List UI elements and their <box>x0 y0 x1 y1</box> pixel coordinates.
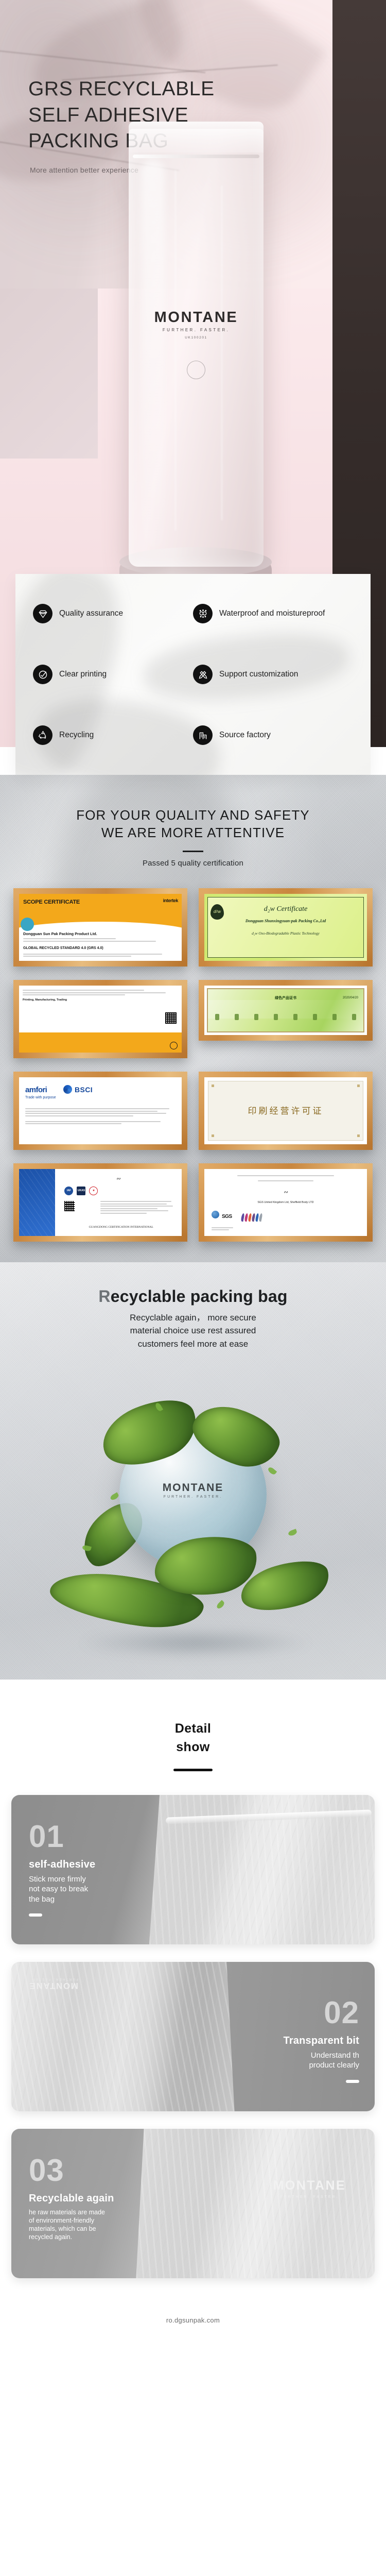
certification-header: FOR YOUR QUALITY AND SAFETY WE ARE MORE … <box>0 807 386 868</box>
detail-card-recyclable-again[interactable]: MONTANE FURTHER. FASTER. 03 Recyclable a… <box>11 2129 375 2278</box>
feature-item-source-factory: Source factory <box>193 705 353 766</box>
certificate-brand: SGS <box>222 1214 232 1219</box>
droplets-icon <box>193 604 213 623</box>
card-text-line-4: recycled again. <box>29 2233 139 2241</box>
bag-photo <box>136 2129 375 2278</box>
cnas-badge-icon: ★ <box>89 1187 98 1195</box>
card-divider <box>346 2080 359 2083</box>
feature-label: Source factory <box>219 731 271 740</box>
certificate-tagline: Trade with purpose <box>25 1096 56 1099</box>
recycle-icon <box>33 725 52 745</box>
brand-tagline: FURTHER. FASTER. <box>129 328 264 332</box>
eco-title-rest: ecyclable packing bag <box>111 1287 288 1306</box>
card-number: 02 <box>231 1998 359 2028</box>
feature-label: Waterproof and moistureproof <box>219 609 325 619</box>
feature-item-recycling: Recycling <box>33 705 193 766</box>
feature-label: Quality assurance <box>59 609 123 619</box>
globe-icon <box>212 1211 219 1218</box>
bag-flap <box>129 122 264 152</box>
card-text-line-1: Stick more firmly <box>29 1874 139 1885</box>
card-text-line-2: product clearly <box>231 2060 359 2071</box>
bag-brand-overlay: MONTANE FURTHER. FASTER. <box>273 2178 346 2199</box>
certificate-title: BSCI <box>75 1086 93 1094</box>
certificate-amfori-bsci-certificate[interactable]: amfori BSCI Trade with purpose <box>13 1072 187 1150</box>
footer: ro.dgsunpak.com <box>0 2301 386 2342</box>
card-text-line-2: not easy to break <box>29 1884 139 1894</box>
signature-mark: ∾ <box>55 1176 182 1182</box>
certificate-title: 印刷经营许可证 <box>208 1104 363 1116</box>
product-detail-page: GRS RECYCLABLE SELF ADHESIVE PACKING BAG… <box>0 0 386 2342</box>
certificate-scope-certificate[interactable]: SCOPE CERTIFICATE intertek Dongguan Sun … <box>13 888 187 967</box>
certificate-company: Dongguan Sun Pak Packing Product Ltd. <box>23 931 178 937</box>
certificate-footer-band <box>19 1032 182 1053</box>
card-text-line-2: of environment-friendly <box>29 2216 139 2225</box>
certification-subtitle: Passed 5 quality certification <box>0 859 386 868</box>
eco-paragraph-line-2: material choice use rest assured <box>0 1324 386 1337</box>
card-divider <box>29 1913 42 1917</box>
certificate-iso-certificate[interactable]: ∾ IAF UKAS ★ GUANGDONG CERTIFICATION INT… <box>13 1163 187 1242</box>
eco-header: Recyclable packing bag Recyclable again，… <box>0 1287 386 1351</box>
features-grid: Quality assurance Waterproof and moistur… <box>15 574 371 775</box>
backdrop-panel <box>0 289 98 459</box>
certificate-title: SCOPE CERTIFICATE <box>23 899 80 905</box>
eco-illustration: MONTANE FURTHER. FASTER. <box>0 1360 386 1680</box>
card-text-line-3: materials, which can be <box>29 2225 139 2233</box>
diamond-icon <box>33 604 52 623</box>
bag-crease <box>221 185 222 520</box>
certification-heading-line-2: WE ARE MORE ATTENTIVE <box>0 824 386 842</box>
iaf-badge-icon: IAF <box>64 1187 73 1195</box>
eco-title-accent: R <box>98 1287 110 1306</box>
heading-divider <box>183 851 203 852</box>
card-text: he raw materials are made of environment… <box>29 2208 139 2242</box>
feature-item-clear-printing: Clear printing <box>33 644 193 705</box>
leaf-icon <box>267 1466 277 1476</box>
certificate-sgs-certificate[interactable]: ∾ SGS United Kingdom Ltd, Sheffield Body… <box>199 1163 373 1242</box>
certificate-side-band <box>19 1169 55 1236</box>
detail-heading: Detail show <box>0 1720 386 1756</box>
detail-show-header: Detail show <box>0 1680 386 1795</box>
certificate-issuer: GUANGDONG CERTIFICATION INTERNATIONAL <box>64 1226 178 1229</box>
certificate-brand: intertek <box>163 898 178 903</box>
eco-paragraph: Recyclable again， more secure material c… <box>0 1311 386 1351</box>
features-section: Quality assurance Waterproof and moistur… <box>15 574 371 775</box>
pencils-icon <box>193 665 213 684</box>
card-number: 01 <box>29 1822 139 1852</box>
certificate-standard: d₂w Oxo-Biodegradable Plastic Technology <box>204 931 367 936</box>
certificates-grid: SCOPE CERTIFICATE intertek Dongguan Sun … <box>0 868 386 1242</box>
accreditation-badges: IAF UKAS ★ <box>64 1187 98 1195</box>
qr-code-icon <box>64 1201 75 1211</box>
certificate-title: d₂w Certificate <box>204 905 367 913</box>
brand-name: MONTANE <box>129 309 264 326</box>
seal-icon <box>170 1042 178 1049</box>
bag-seal-circle <box>187 361 205 379</box>
brand-tagline: FURTHER. FASTER. <box>29 1977 78 1980</box>
certificate-company: Dongguan Shunxingyuan-pak Packing Co.,Lt… <box>204 919 367 923</box>
card-title: Transparent bit <box>231 2035 359 2047</box>
certification-section: FOR YOUR QUALITY AND SAFETY WE ARE MORE … <box>0 775 386 1262</box>
brand-name: MONTANE <box>273 2178 346 2193</box>
leaf-icon <box>288 1529 297 1536</box>
certificate-intertek-scope-page2[interactable]: Printing, Manufacturing, Trading <box>13 980 187 1058</box>
ukas-badge-icon: UKAS <box>77 1187 85 1195</box>
certificate-green-product-certificate[interactable]: 绿色产品证书 2020/04/20 <box>199 980 373 1041</box>
card-title: Recyclable again <box>29 2193 139 2205</box>
sgs-birds-icon <box>241 1213 262 1222</box>
signature-mark: ∾ <box>204 1190 367 1195</box>
bag-crease <box>175 170 176 531</box>
feature-label: Support customization <box>219 670 298 680</box>
certificate-standard: GLOBAL RECYCLED STANDARD 4.0 (GRS 4.0) <box>23 946 178 951</box>
brand-code: UK100201 <box>129 336 264 340</box>
feature-item-support-customization: Support customization <box>193 644 353 705</box>
hero-subtitle: More attention better experience <box>30 166 138 174</box>
certificate-brand: amfori <box>25 1086 47 1094</box>
card-number: 03 <box>29 2156 139 2185</box>
leaf-icon <box>216 1600 225 1610</box>
card-title: self-adhesive <box>29 1859 139 1871</box>
decorative-dot <box>21 918 34 931</box>
bag-brand-logo: MONTANE FURTHER. FASTER. UK100201 <box>129 309 264 340</box>
brand-tagline: FURTHER. FASTER. <box>119 1495 267 1499</box>
brand-name: MONTANE <box>119 1482 267 1494</box>
leaf-icon <box>110 1492 120 1501</box>
detail-card-transparent-bit[interactable]: MONTANE FURTHER. FASTER. 02 Transparent … <box>11 1962 375 2111</box>
card-text-line-3: the bag <box>29 1894 139 1905</box>
feature-item-quality-assurance: Quality assurance <box>33 583 193 644</box>
factory-icon <box>193 725 213 745</box>
card-text: Stick more firmly not easy to break the … <box>29 1874 139 1905</box>
eco-paragraph-line-1: Recyclable again， more secure <box>0 1311 386 1325</box>
bag-adhesive-seal <box>133 155 259 158</box>
detail-heading-line-2: show <box>176 1740 210 1754</box>
detail-heading-line-1: Detail <box>175 1721 211 1736</box>
heading-divider <box>173 1769 213 1771</box>
certificate-icon-row <box>215 1014 356 1020</box>
certificate-printing-business-license[interactable]: 印刷经营许可证 <box>199 1072 373 1150</box>
eco-paragraph-line-3: customers feel more at ease <box>0 1337 386 1351</box>
eco-shadow <box>77 1628 314 1658</box>
bag-brand-overlay: MONTANE FURTHER. FASTER. <box>29 1977 78 1991</box>
amfori-spiral-icon <box>63 1085 72 1094</box>
footer-url[interactable]: ro.dgsunpak.com <box>166 2316 220 2324</box>
brand-name: MONTANE <box>29 1980 78 1991</box>
eco-section: Recyclable packing bag Recyclable again，… <box>0 1262 386 1680</box>
print-check-icon <box>33 665 52 684</box>
brand-tagline: FURTHER. FASTER. <box>273 2195 346 2199</box>
card-text-line-1: Understand th <box>231 2050 359 2061</box>
certificate-date: 2020/04/20 <box>343 996 358 999</box>
feature-label: Clear printing <box>59 670 107 680</box>
card-text: Understand th product clearly <box>231 2050 359 2071</box>
qr-code-icon <box>165 1012 177 1024</box>
certificate-title: 绿色产品证书 <box>208 995 363 1001</box>
feature-label: Recycling <box>59 731 94 740</box>
detail-cards: 01 self-adhesive Stick more firmly not e… <box>0 1795 386 2301</box>
certificate-detail: Printing, Manufacturing, Trading <box>23 998 178 1002</box>
detail-card-self-adhesive[interactable]: 01 self-adhesive Stick more firmly not e… <box>11 1795 375 1944</box>
hero-title-line-1: GRS RECYCLABLE <box>28 78 215 100</box>
card-text-line-1: he raw materials are made <box>29 2208 139 2216</box>
certificate-issuer: SGS United Kingdom Ltd, Sheffield Body L… <box>213 1201 359 1204</box>
eco-title: Recyclable packing bag <box>0 1287 386 1306</box>
bag-highlight <box>141 160 165 551</box>
feature-item-waterproof: Waterproof and moistureproof <box>193 583 353 644</box>
certificate-d2w-certificate[interactable]: d2w d₂w Certificate Dongguan Shunxingyua… <box>199 888 373 967</box>
certification-heading-line-1: FOR YOUR QUALITY AND SAFETY <box>0 807 386 824</box>
